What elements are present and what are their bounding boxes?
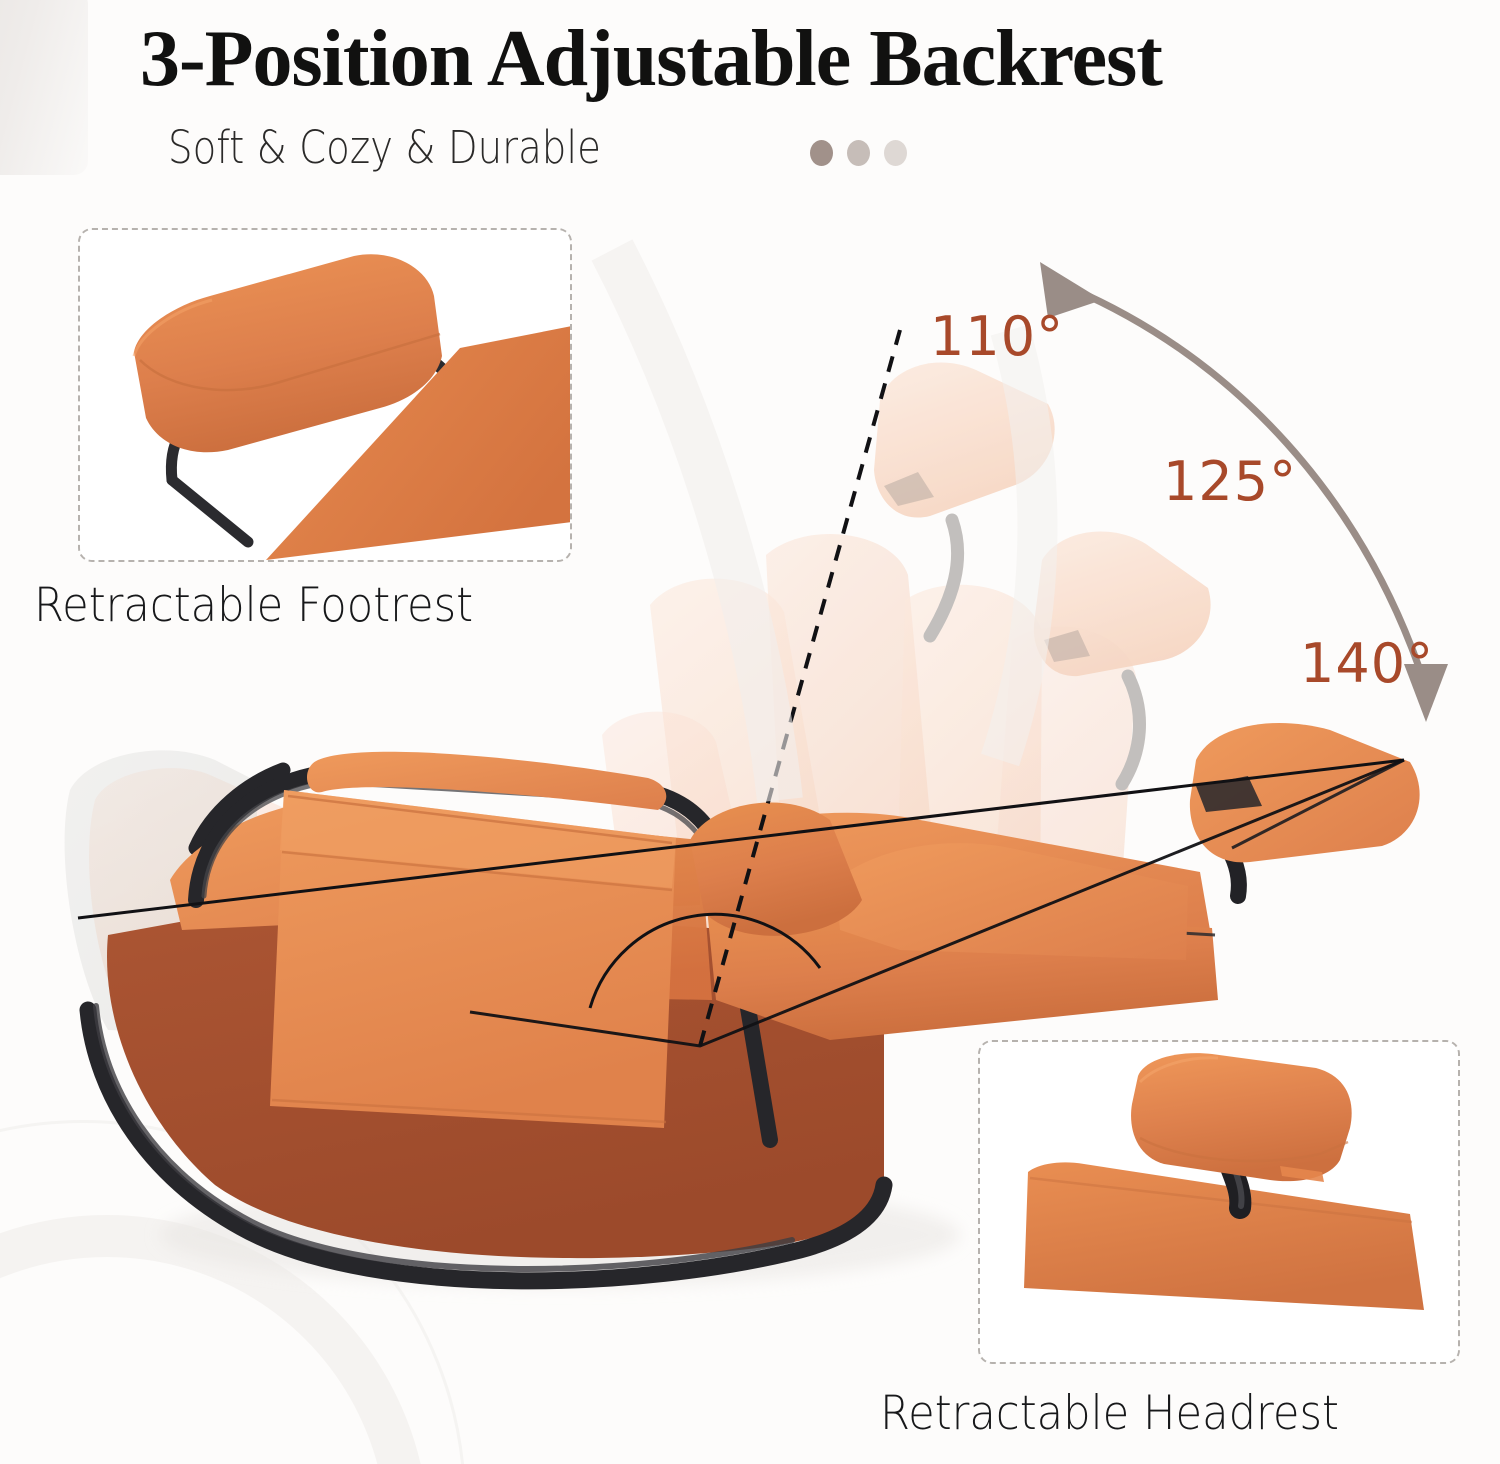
callout-label-headrest: Retractable Headrest bbox=[880, 1386, 1339, 1441]
angle-vertex-lines bbox=[470, 760, 1404, 1046]
bg-light-streak-1 bbox=[612, 250, 780, 800]
decorative-dots bbox=[810, 140, 907, 166]
pocket-stitch-bottom bbox=[272, 1100, 666, 1122]
pocket-stitch-top bbox=[288, 796, 672, 843]
ghost-chair-left-grey bbox=[65, 750, 258, 1035]
dot-2-icon bbox=[847, 140, 870, 166]
seat-side-upper bbox=[170, 800, 700, 930]
seat-edge-line bbox=[760, 908, 1215, 935]
side-pocket-top-flap bbox=[280, 790, 676, 888]
headrest-main bbox=[1190, 723, 1420, 862]
headrest-hinge-post bbox=[1212, 828, 1239, 896]
headrest-angle-line bbox=[1232, 760, 1404, 848]
callout-box-footrest bbox=[78, 228, 572, 562]
decorative-rounded-rect bbox=[0, 0, 88, 175]
seat-block bbox=[296, 800, 712, 1000]
seat-cushion-top bbox=[700, 813, 1210, 930]
frame-tube-arm-highlight bbox=[204, 782, 720, 902]
headrest-detail-image bbox=[980, 1042, 1458, 1362]
arm-rail-padded bbox=[307, 752, 666, 810]
page-subtitle: Soft & Cozy & Durable bbox=[168, 121, 601, 174]
recline-axis-dashed bbox=[700, 330, 900, 1046]
callout-label-footrest: Retractable Footrest bbox=[34, 578, 473, 633]
back-cushion bbox=[690, 803, 862, 936]
dot-3-icon bbox=[884, 140, 907, 166]
decorative-arc-outline bbox=[0, 1120, 466, 1464]
callout-box-headrest bbox=[978, 1040, 1460, 1364]
angle-label-125: 125° bbox=[1163, 450, 1297, 513]
frame-tube-arm bbox=[196, 772, 770, 1140]
page-title: 3-Position Adjustable Backrest bbox=[140, 14, 1162, 105]
angle-label-140: 140° bbox=[1300, 632, 1434, 695]
infographic-canvas: 3-Position Adjustable Backrest Soft & Co… bbox=[0, 0, 1500, 1464]
frame-tube-back bbox=[196, 770, 283, 848]
headrest-slot bbox=[1196, 776, 1262, 812]
side-pocket bbox=[270, 790, 676, 1128]
seat-cushion-front bbox=[706, 898, 1218, 1040]
backrest-slab bbox=[836, 843, 1188, 960]
ghost-headrest-110 bbox=[874, 362, 1055, 636]
baseline-horizontal bbox=[78, 760, 1404, 918]
angle-vertex-arc bbox=[590, 914, 820, 1008]
ghost-backrest-fan bbox=[602, 534, 1136, 974]
pocket-stitch-mid bbox=[282, 852, 672, 890]
footrest-detail-image bbox=[80, 230, 570, 560]
bg-light-streak-2 bbox=[1000, 330, 1037, 760]
angle-label-110: 110° bbox=[930, 305, 1064, 368]
dot-1-icon bbox=[810, 140, 833, 166]
ghost-chair-left bbox=[89, 768, 300, 1010]
ghost-headrest-125 bbox=[1034, 531, 1211, 784]
